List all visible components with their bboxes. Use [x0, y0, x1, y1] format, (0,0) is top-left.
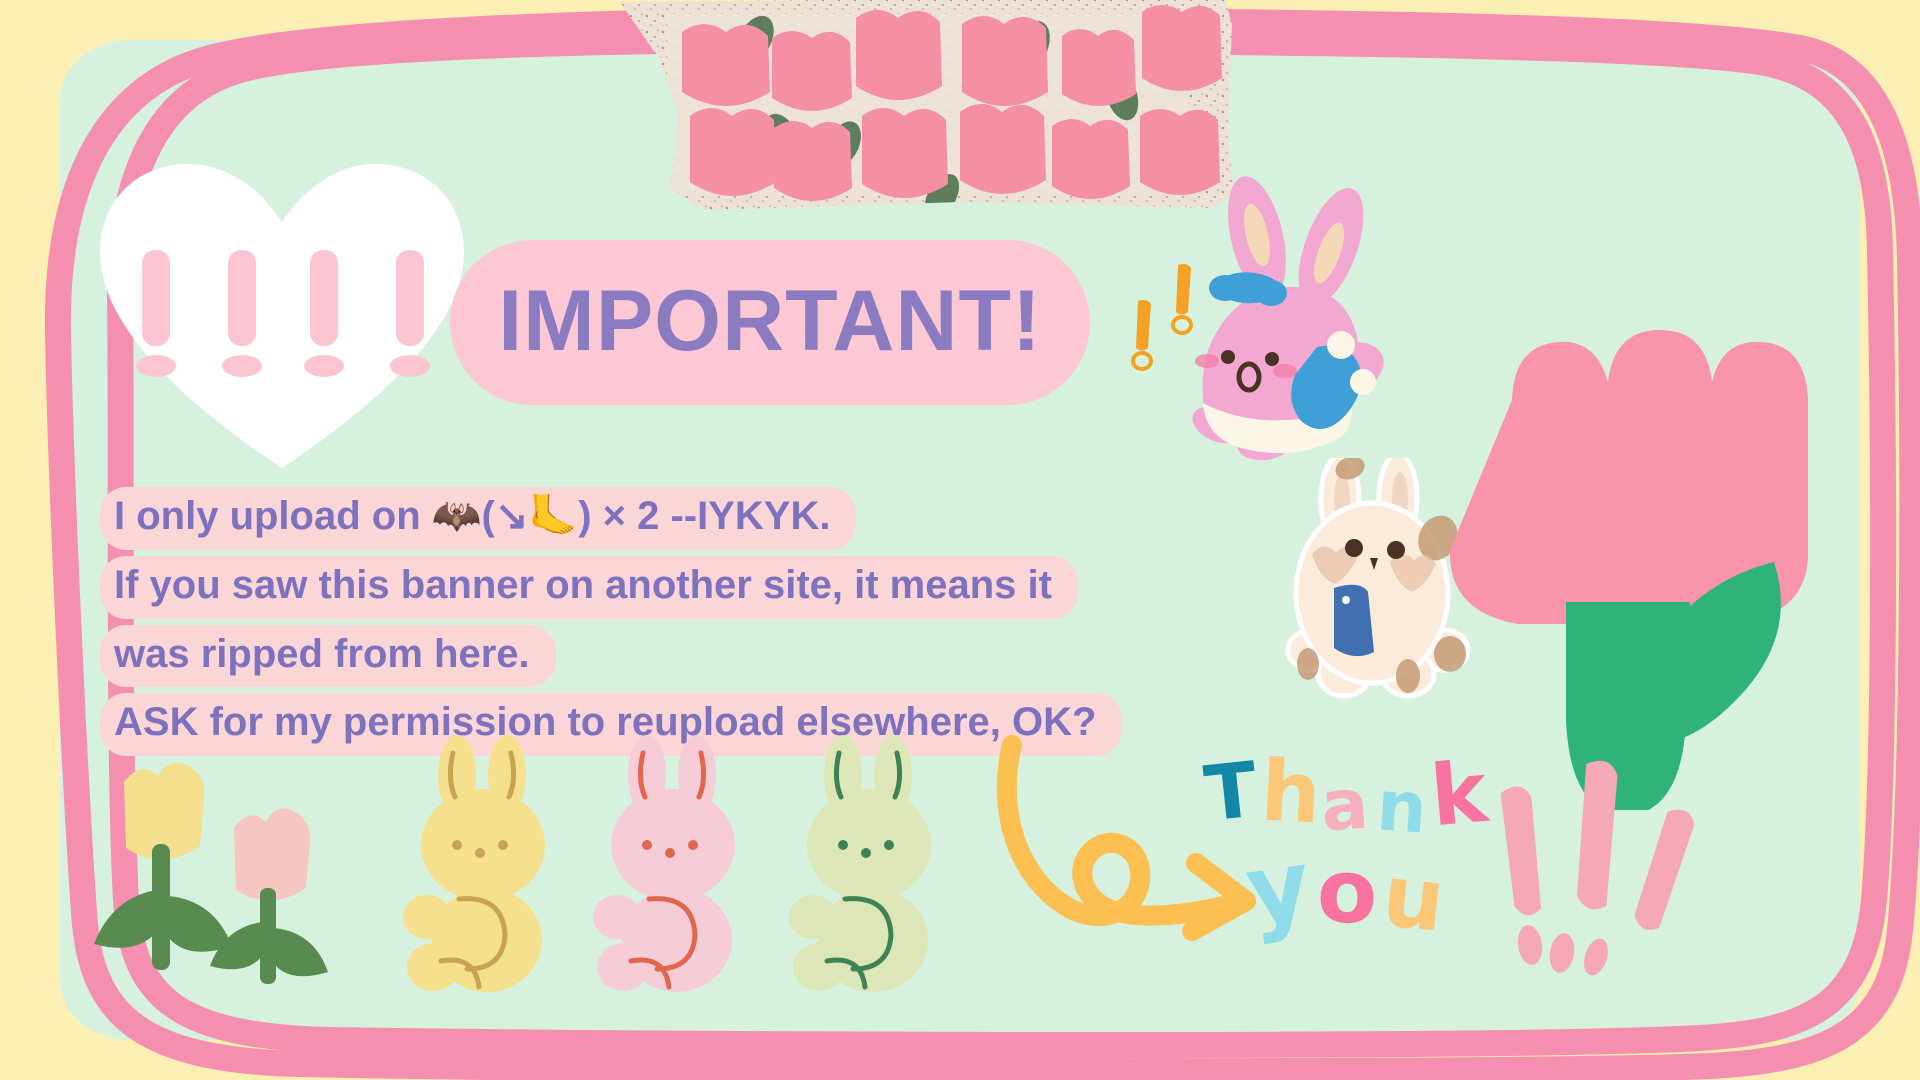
important-heading-banner: IMPORTANT!	[450, 240, 1090, 405]
banner-canvas: IMPORTANT! I only upload on 🦇(↘🦶) × 2 --…	[0, 0, 1920, 1080]
yellow-bunny-cookie	[403, 735, 545, 992]
thankyou-letter-h: h	[1259, 748, 1323, 835]
pink-petal-marks-icon	[1480, 745, 1725, 995]
thankyou-letter-n: n	[1375, 770, 1430, 843]
green-bunny-cookie	[789, 735, 931, 992]
thankyou-letter-a: a	[1319, 768, 1371, 841]
page-title: IMPORTANT!	[498, 278, 1041, 364]
notice-line-2: If you saw this banner on another site, …	[100, 556, 1078, 619]
thank-you-text: T h a n k y o u	[1205, 752, 1505, 962]
thankyou-letter-k: k	[1427, 750, 1490, 839]
thankyou-letter-T: T	[1201, 751, 1261, 832]
bunny-cookies-icon	[395, 735, 975, 1005]
notice-line-1: I only upload on 🦇(↘🦶) × 2 --IYKYK.	[100, 487, 856, 550]
big-tulip-icon	[1438, 250, 1818, 810]
orange-exclamation-marks-icon	[1110, 243, 1240, 378]
notice-line-3: was ripped from here.	[100, 625, 556, 688]
heart-icon	[92, 150, 472, 480]
thankyou-letter-u: u	[1379, 853, 1449, 945]
pink-bunny-cookie	[593, 735, 735, 992]
thankyou-letter-y: y	[1241, 836, 1316, 940]
thankyou-letter-o: o	[1315, 847, 1379, 937]
